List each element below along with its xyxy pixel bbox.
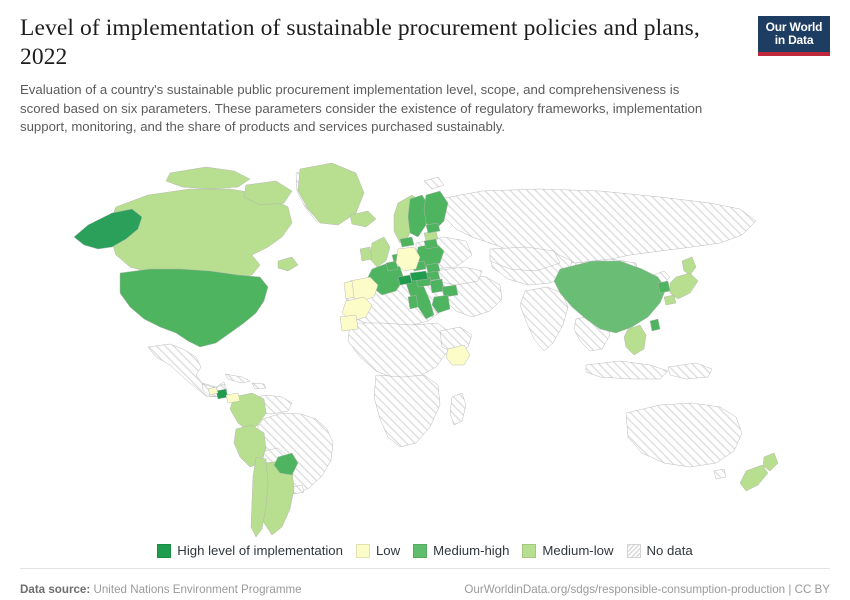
world-map-svg[interactable] [20,141,830,541]
country-new-zealand-north[interactable] [763,453,778,471]
chart-subtitle: Evaluation of a country's sustainable pu… [20,81,720,137]
data-source-label: Data source: [20,583,90,596]
data-source-value: United Nations Environment Programme [93,583,301,596]
country-japan[interactable] [682,257,696,275]
country-papua-new-guinea[interactable] [668,363,712,379]
page-title: Level of implementation of sustainable p… [20,14,720,72]
country-tasmania[interactable] [714,469,726,479]
country-south-korea[interactable] [658,281,670,293]
owid-chart: Level of implementation of sustainable p… [0,0,850,600]
header-text-block: Level of implementation of sustainable p… [20,14,720,137]
country-australia[interactable] [626,403,742,467]
legend-label-high: High level of implementation [177,543,343,558]
legend-item-medium-low[interactable]: Medium-low [522,543,613,558]
country-denmark[interactable] [400,237,414,247]
country-shapes[interactable] [74,163,778,537]
chart-header: Level of implementation of sustainable p… [20,14,830,137]
legend-label-no-data: No data [647,543,693,558]
country-united-kingdom[interactable] [370,237,390,267]
legend-item-medium-high[interactable]: Medium-high [413,543,509,558]
legend-swatch-medium-low [522,544,536,558]
map-legend[interactable]: High level of implementation Low Medium-… [20,541,830,568]
country-taiwan[interactable] [650,319,660,331]
country-china[interactable] [554,261,666,333]
legend-swatch-medium-high [413,544,427,558]
owid-logo-line2: in Data [760,34,828,47]
chart-footer: Data source: United Nations Environment … [20,568,830,600]
region-southern-africa[interactable] [374,375,440,447]
region-central-africa[interactable] [348,323,450,379]
legend-item-high[interactable]: High level of implementation [157,543,343,558]
legend-swatch-low [356,544,370,558]
country-united-states[interactable] [120,269,268,347]
country-estonia[interactable] [426,223,440,233]
legend-item-low[interactable]: Low [356,543,400,558]
country-lithuania[interactable] [424,239,438,249]
country-ireland[interactable] [360,247,372,261]
country-canada-arctic-islands[interactable] [166,167,250,189]
country-austria[interactable] [410,271,428,281]
region-svalbard[interactable] [424,177,444,189]
country-portugal[interactable] [344,281,354,299]
country-india[interactable] [520,287,568,351]
legend-label-low: Low [376,543,400,558]
country-western-sahara[interactable] [340,315,358,331]
country-serbia[interactable] [430,279,444,293]
data-source: Data source: United Nations Environment … [20,583,302,596]
country-panama[interactable] [226,393,240,403]
country-cuba[interactable] [225,374,250,383]
country-switzerland[interactable] [398,275,412,285]
legend-label-medium-high: Medium-high [433,543,509,558]
footer-url[interactable]: OurWorldinData.org/sdgs/responsible-cons… [464,583,830,596]
country-new-zealand-south[interactable] [740,465,768,491]
legend-swatch-no-data [627,544,641,558]
legend-item-no-data[interactable]: No data [627,543,693,558]
country-indonesia[interactable] [586,361,668,379]
country-japan-kyushu[interactable] [664,295,676,305]
country-hispaniola[interactable] [252,383,266,389]
country-madagascar[interactable] [450,393,466,425]
legend-swatch-high [157,544,171,558]
owid-logo-line1: Our World [760,21,828,34]
country-newfoundland[interactable] [278,257,298,271]
country-costa-rica[interactable] [216,389,228,399]
country-tunisia[interactable] [408,295,418,309]
legend-label-medium-low: Medium-low [542,543,613,558]
country-philippines[interactable] [624,325,646,355]
owid-logo[interactable]: Our World in Data [758,16,830,56]
country-russia[interactable] [440,189,756,263]
country-bulgaria[interactable] [442,285,458,297]
world-map[interactable] [20,141,830,541]
